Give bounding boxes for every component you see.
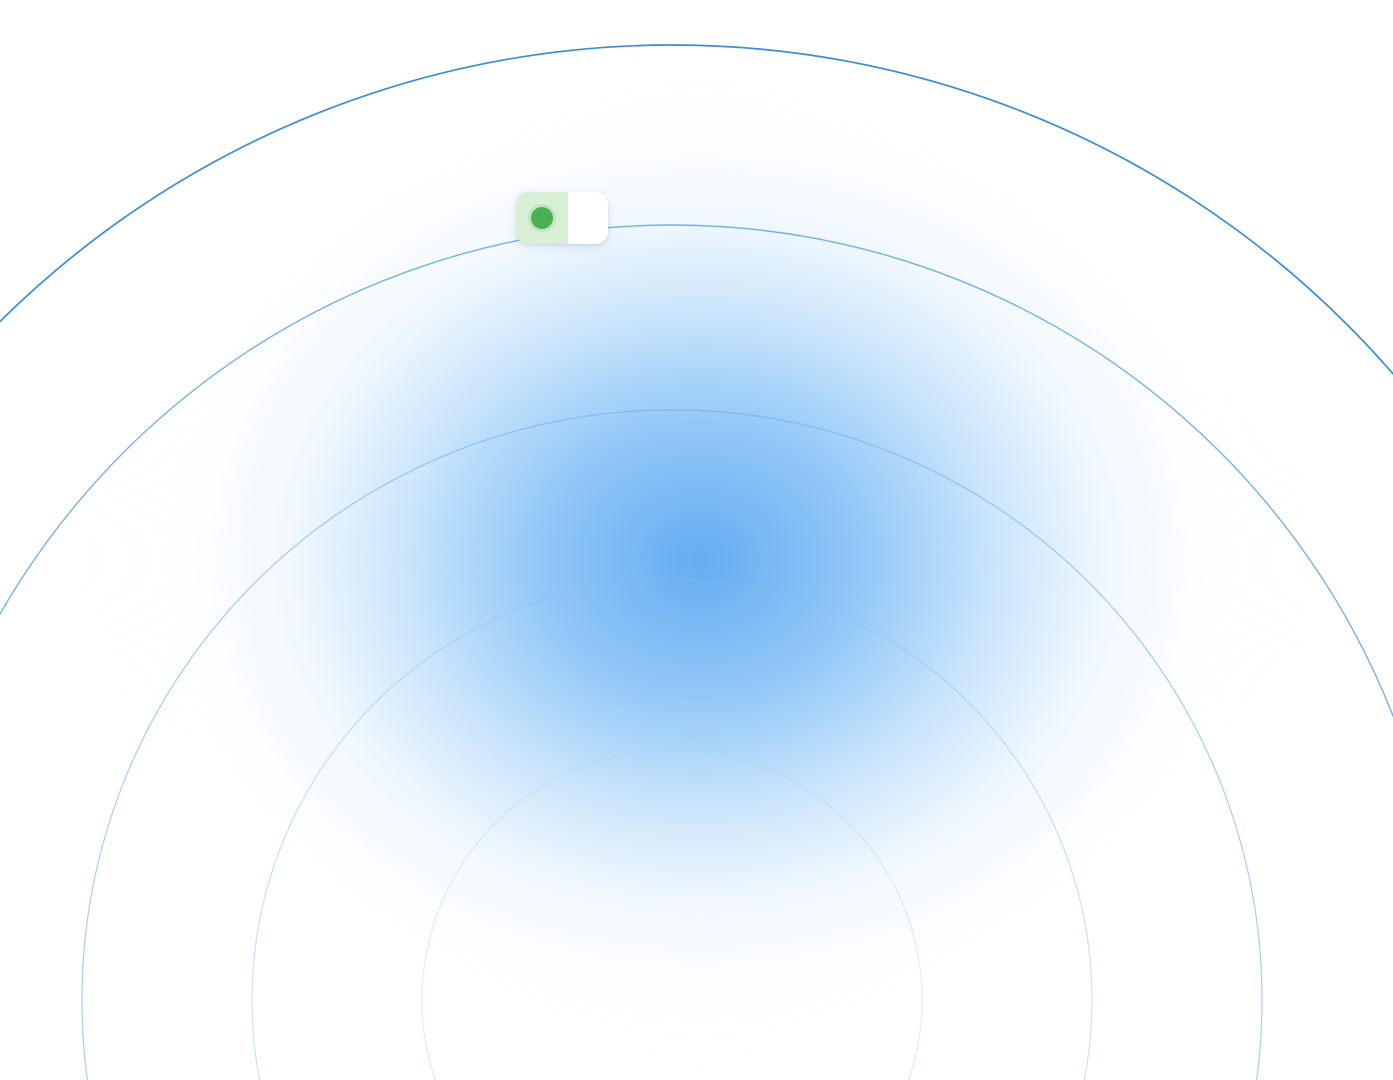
status-dot-icon xyxy=(516,192,568,244)
background-orbit-arcs xyxy=(0,0,1393,1080)
illustration-scene xyxy=(0,0,1393,1080)
control-monitoring-chip[interactable] xyxy=(516,192,608,244)
